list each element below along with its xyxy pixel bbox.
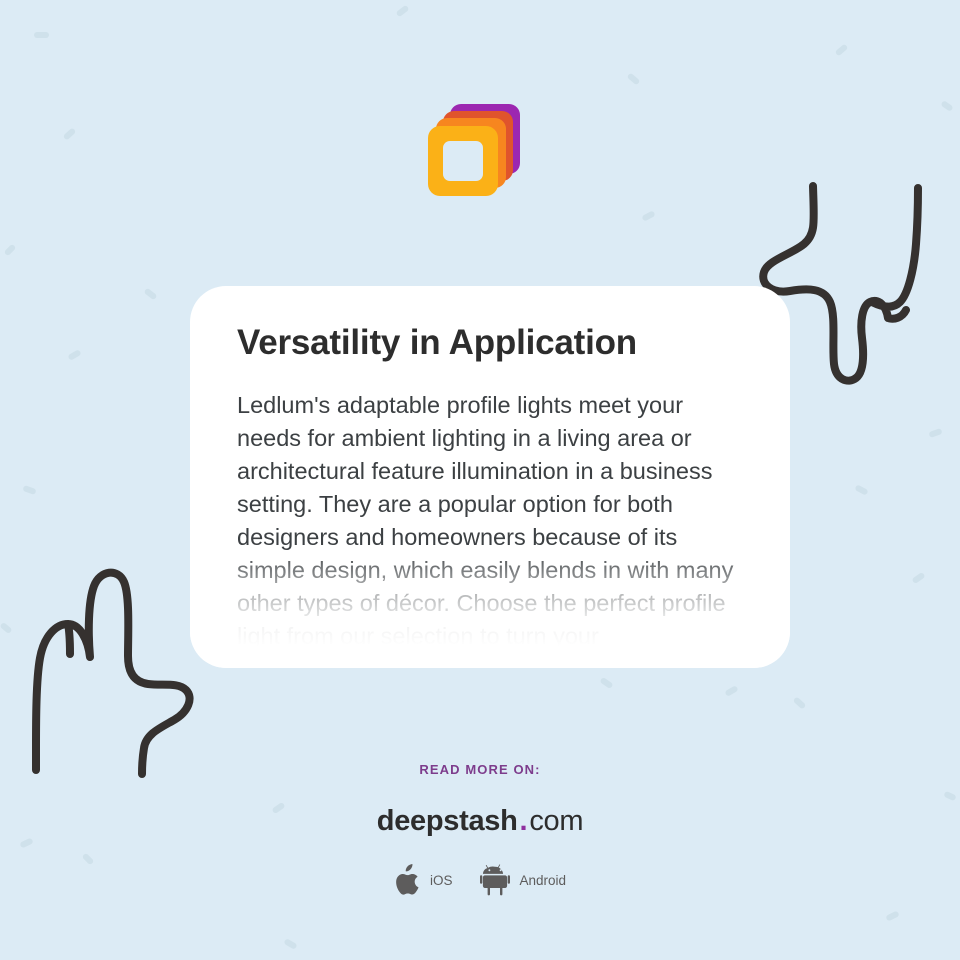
- speck: [724, 685, 738, 697]
- social-card-page: Versatility in Application Ledlum's adap…: [0, 0, 960, 960]
- speck: [22, 485, 36, 495]
- speck: [627, 73, 641, 86]
- speck: [63, 127, 77, 140]
- android-icon: [480, 864, 510, 896]
- speck: [793, 696, 807, 709]
- brand-wordmark[interactable]: deepstash.com: [0, 805, 960, 838]
- speck: [641, 210, 655, 221]
- apple-icon: [394, 864, 421, 896]
- brand-name: deepstash: [377, 805, 518, 837]
- speck: [144, 288, 158, 301]
- speck: [396, 5, 410, 18]
- speck: [599, 677, 613, 689]
- speck: [928, 428, 942, 438]
- android-label: Android: [519, 873, 566, 888]
- page-title: Versatility in Application: [237, 322, 744, 363]
- deepstash-logo-icon: [428, 104, 520, 196]
- card-inner: Versatility in Application Ledlum's adap…: [190, 286, 790, 653]
- speck: [283, 938, 297, 950]
- brand-dot: .: [518, 805, 530, 837]
- ios-badge[interactable]: iOS: [394, 864, 453, 896]
- speck: [34, 32, 49, 38]
- speck: [67, 349, 81, 361]
- speck: [885, 910, 899, 921]
- pointing-up-hand-outline-icon: [22, 562, 197, 777]
- logo-cutout: [443, 141, 483, 181]
- app-store-badges: iOS Android: [0, 864, 960, 896]
- speck: [940, 100, 953, 112]
- content-card: Versatility in Application Ledlum's adap…: [190, 286, 790, 668]
- speck: [911, 572, 925, 584]
- brand-tld: com: [529, 805, 583, 837]
- android-badge[interactable]: Android: [480, 864, 566, 896]
- logo-layer-amber: [428, 126, 498, 196]
- speck: [0, 622, 13, 634]
- card-body-text: Ledlum's adaptable profile lights meet y…: [237, 389, 744, 653]
- read-more-label: READ MORE ON:: [0, 762, 960, 777]
- ios-label: iOS: [430, 873, 453, 888]
- speck: [4, 244, 17, 257]
- footer: READ MORE ON: deepstash.com iOS: [0, 762, 960, 896]
- speck: [854, 484, 868, 495]
- speck: [835, 44, 849, 57]
